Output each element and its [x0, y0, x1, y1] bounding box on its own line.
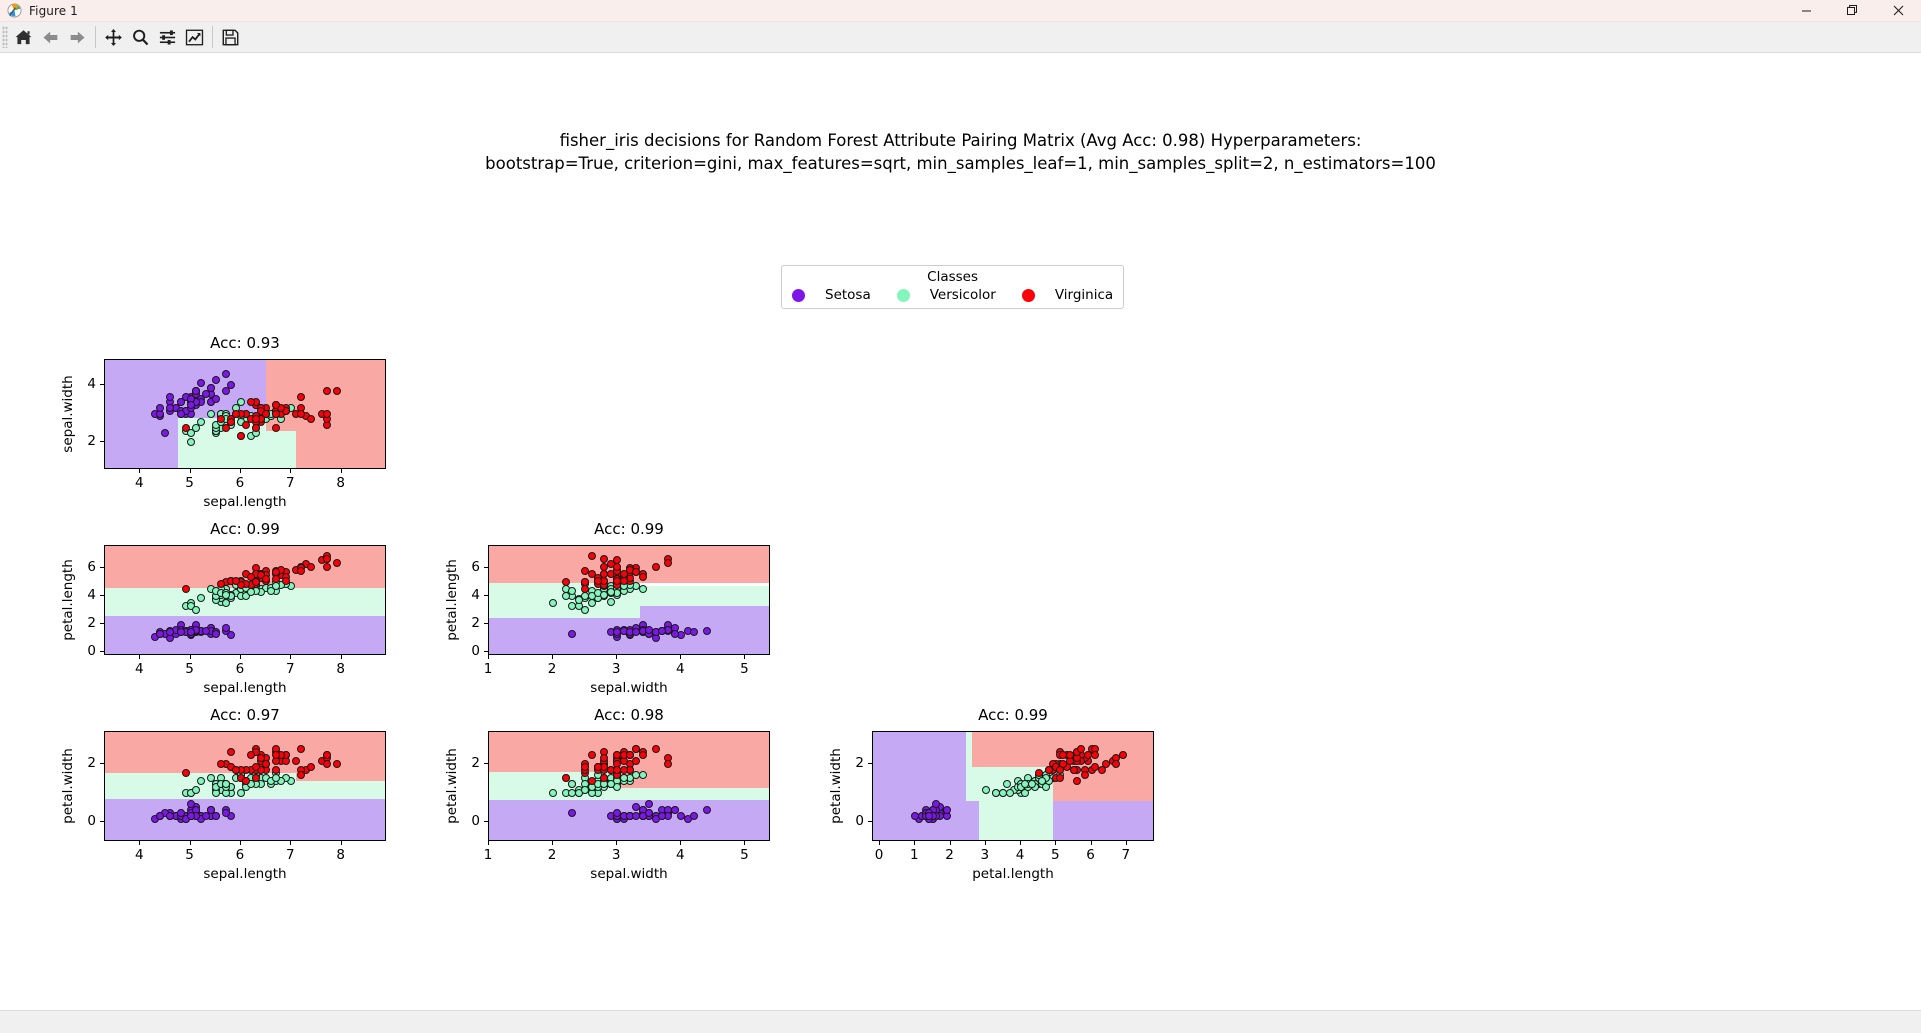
- home-icon: [14, 28, 33, 47]
- figure-title-line-2: bootstrap=True, criterion=gini, max_feat…: [0, 152, 1921, 175]
- data-point: [177, 628, 185, 636]
- data-point: [192, 606, 200, 614]
- x-tick: [744, 655, 745, 659]
- subplot-title: Acc: 0.98: [488, 706, 770, 724]
- data-point: [323, 410, 331, 418]
- x-tick: [950, 841, 951, 845]
- x-tick-label: 2: [548, 661, 557, 677]
- x-tick: [190, 655, 191, 659]
- data-point: [652, 745, 660, 753]
- data-point: [703, 627, 711, 635]
- forward-arrow-icon: [68, 28, 87, 47]
- data-point: [217, 580, 225, 588]
- y-axis-label: sepal.width: [60, 375, 76, 452]
- data-point: [652, 563, 660, 571]
- x-tick: [744, 841, 745, 845]
- forward-button[interactable]: [64, 24, 91, 50]
- y-axis-label: petal.width: [828, 748, 844, 824]
- subplot-title: Acc: 0.99: [872, 706, 1154, 724]
- legend-marker-virginica-icon: [1022, 289, 1035, 302]
- x-tick-label: 1: [484, 661, 493, 677]
- data-point: [323, 563, 331, 571]
- decision-region-virginica: [296, 431, 386, 470]
- legend-items: SetosaVersicolorVirginica: [792, 287, 1113, 303]
- subplot-sepal-length-vs-petal-width[interactable]: Acc: 0.974567802sepal.lengthpetal.width: [104, 731, 386, 841]
- subplot-sepal-width-vs-petal-width[interactable]: Acc: 0.981234502sepal.widthpetal.width: [488, 731, 770, 841]
- data-point: [272, 410, 280, 418]
- data-point: [581, 763, 589, 771]
- decision-region-setosa: [873, 732, 966, 841]
- data-point: [177, 809, 185, 817]
- data-point: [187, 438, 195, 446]
- x-tick: [1020, 841, 1021, 845]
- data-point: [197, 379, 205, 387]
- toolbar-separator-1: [95, 26, 96, 48]
- x-tick-label: 6: [236, 847, 245, 863]
- legend-item-virginica[interactable]: Virginica: [1022, 287, 1113, 303]
- matplotlib-navigation-toolbar: [0, 22, 1921, 53]
- x-tick: [240, 469, 241, 473]
- x-tick-label: 5: [185, 475, 194, 491]
- y-tick-label: 2: [76, 755, 96, 771]
- decision-region-setosa: [105, 799, 386, 841]
- data-point: [639, 585, 647, 593]
- data-point: [588, 570, 596, 578]
- decision-region-versicolor: [972, 767, 980, 802]
- figure-canvas[interactable]: fisher_iris decisions for Random Forest …: [0, 53, 1921, 1010]
- data-point: [182, 585, 190, 593]
- x-axis-label: sepal.length: [104, 494, 386, 510]
- y-tick-label: 2: [460, 755, 480, 771]
- legend-item-setosa[interactable]: Setosa: [792, 287, 871, 303]
- window-title: Figure 1: [29, 4, 78, 18]
- legend-marker-versicolor-icon: [897, 289, 910, 302]
- data-point: [639, 573, 647, 581]
- data-point: [1112, 760, 1120, 768]
- x-tick: [616, 841, 617, 845]
- data-point: [600, 555, 608, 563]
- legend-label: Virginica: [1055, 287, 1113, 303]
- legend-title: Classes: [792, 270, 1113, 285]
- subplot-title: Acc: 0.99: [488, 520, 770, 538]
- data-point: [607, 598, 615, 606]
- data-point: [182, 424, 190, 432]
- pan-button[interactable]: [100, 24, 127, 50]
- x-tick: [341, 655, 342, 659]
- y-tick-label: 2: [460, 615, 480, 631]
- data-point: [242, 421, 250, 429]
- y-axis-label: petal.width: [444, 748, 460, 824]
- data-point: [177, 410, 185, 418]
- data-point: [222, 370, 230, 378]
- x-tick-label: 5: [185, 661, 194, 677]
- x-tick-label: 4: [676, 847, 685, 863]
- data-point: [232, 577, 240, 585]
- subplot-sepal-length-vs-petal-length[interactable]: Acc: 0.99456780246sepal.lengthpetal.leng…: [104, 545, 386, 655]
- legend-item-versicolor[interactable]: Versicolor: [897, 287, 996, 303]
- pan-move-icon: [104, 28, 123, 47]
- close-icon: [1893, 5, 1904, 16]
- data-point: [588, 751, 596, 759]
- data-point: [192, 387, 200, 395]
- x-tick-label: 5: [1051, 847, 1060, 863]
- y-tick: [100, 441, 104, 442]
- data-point: [594, 577, 602, 585]
- x-tick-label: 6: [236, 661, 245, 677]
- data-point: [272, 766, 280, 774]
- data-point: [212, 812, 220, 820]
- subplot-title: Acc: 0.97: [104, 706, 386, 724]
- y-tick: [100, 763, 104, 764]
- x-tick-label: 5: [740, 847, 749, 863]
- y-tick: [100, 384, 104, 385]
- configure-subplots-button[interactable]: [154, 24, 181, 50]
- data-point: [227, 418, 235, 426]
- data-point: [232, 766, 240, 774]
- y-tick: [484, 567, 488, 568]
- decision-region-versicolor: [617, 788, 770, 800]
- subplot-title: Acc: 0.99: [104, 520, 386, 538]
- x-tick-label: 1: [910, 847, 919, 863]
- x-tick: [290, 841, 291, 845]
- x-tick: [1055, 841, 1056, 845]
- x-tick: [139, 469, 140, 473]
- x-tick: [341, 469, 342, 473]
- data-point: [202, 627, 210, 635]
- figure-title-line-1: fisher_iris decisions for Random Forest …: [0, 129, 1921, 152]
- x-tick: [341, 841, 342, 845]
- y-tick: [484, 763, 488, 764]
- y-tick-label: 2: [844, 755, 864, 771]
- y-tick: [484, 651, 488, 652]
- x-tick-label: 2: [945, 847, 954, 863]
- x-axis-label: sepal.length: [104, 680, 386, 696]
- decision-region-virginica: [296, 732, 386, 781]
- data-point: [323, 760, 331, 768]
- data-point: [252, 424, 260, 432]
- x-tick-label: 2: [548, 847, 557, 863]
- x-axis-label: petal.length: [872, 866, 1154, 882]
- matplotlib-figure-icon: [7, 3, 22, 18]
- zoom-button[interactable]: [127, 24, 154, 50]
- x-tick-label: 7: [286, 847, 295, 863]
- y-tick-label: 2: [76, 433, 96, 449]
- data-point: [690, 812, 698, 820]
- data-point: [247, 573, 255, 581]
- zoom-magnifier-icon: [131, 28, 150, 47]
- subplot-sepal-length-vs-sepal-width[interactable]: Acc: 0.934567824sepal.lengthsepal.width: [104, 359, 386, 469]
- data-point: [658, 627, 666, 635]
- data-point: [323, 387, 331, 395]
- x-tick-label: 8: [336, 661, 345, 677]
- data-point: [333, 760, 341, 768]
- axes-area[interactable]: [104, 545, 386, 655]
- subplot-petal-length-vs-petal-width[interactable]: Acc: 0.990123456702petal.lengthpetal.wid…: [872, 731, 1154, 841]
- data-point: [247, 588, 255, 596]
- data-point: [323, 555, 331, 563]
- data-point: [1028, 780, 1036, 788]
- y-tick-label: 2: [76, 615, 96, 631]
- data-point: [323, 751, 331, 759]
- data-point: [568, 630, 576, 638]
- data-point: [222, 809, 230, 817]
- axes-area[interactable]: [104, 731, 386, 841]
- x-tick: [290, 469, 291, 473]
- decision-region-versicolor: [640, 586, 770, 605]
- data-point: [222, 780, 230, 788]
- x-tick: [190, 841, 191, 845]
- x-tick: [139, 841, 140, 845]
- data-point: [192, 786, 200, 794]
- x-axis-label: sepal.width: [488, 680, 770, 696]
- x-tick-label: 7: [286, 475, 295, 491]
- x-tick: [1091, 841, 1092, 845]
- y-tick-label: 0: [76, 813, 96, 829]
- back-arrow-icon: [41, 28, 60, 47]
- y-tick: [868, 821, 872, 822]
- y-axis-label: petal.width: [60, 748, 76, 824]
- edit-parameters-button[interactable]: [181, 24, 208, 50]
- y-tick: [100, 595, 104, 596]
- x-tick-label: 8: [336, 475, 345, 491]
- x-tick: [139, 655, 140, 659]
- y-tick-label: 6: [76, 559, 96, 575]
- x-tick: [190, 469, 191, 473]
- data-point: [645, 626, 653, 634]
- data-point: [658, 812, 666, 820]
- data-point: [613, 577, 621, 585]
- data-point: [1091, 763, 1099, 771]
- data-point: [639, 751, 647, 759]
- minimize-button[interactable]: [1783, 0, 1829, 21]
- data-point: [202, 812, 210, 820]
- data-point: [1035, 769, 1043, 777]
- data-point: [333, 387, 341, 395]
- x-tick: [240, 655, 241, 659]
- decision-region-versicolor: [296, 781, 386, 799]
- y-tick: [484, 821, 488, 822]
- data-point: [217, 415, 225, 423]
- data-point: [568, 587, 576, 595]
- x-tick-label: 4: [1016, 847, 1025, 863]
- window-titlebar: Figure 1: [0, 0, 1921, 22]
- data-point: [581, 786, 589, 794]
- axes-area[interactable]: [488, 545, 770, 655]
- minimize-icon: [1801, 5, 1812, 16]
- maximize-restore-icon: [1847, 5, 1858, 16]
- data-point: [613, 563, 621, 571]
- maximize-button[interactable]: [1829, 0, 1875, 21]
- data-point: [192, 424, 200, 432]
- decision-region-setosa: [1053, 801, 1154, 841]
- window-controls: [1783, 0, 1921, 21]
- axes-area[interactable]: [104, 359, 386, 469]
- y-tick: [100, 651, 104, 652]
- y-tick-label: 4: [76, 376, 96, 392]
- data-point: [671, 806, 679, 814]
- toolbar-separator-2: [212, 26, 213, 48]
- data-point: [187, 812, 195, 820]
- x-tick: [1126, 841, 1127, 845]
- data-point: [1070, 766, 1078, 774]
- y-tick-label: 0: [460, 813, 480, 829]
- data-point: [333, 559, 341, 567]
- data-point: [594, 763, 602, 771]
- figure-window: Figure 1: [0, 0, 1921, 1033]
- x-tick: [680, 655, 681, 659]
- x-axis-label: sepal.length: [104, 866, 386, 882]
- x-tick-label: 4: [135, 475, 144, 491]
- x-tick-label: 8: [336, 847, 345, 863]
- x-tick: [552, 841, 553, 845]
- status-bar: [0, 1010, 1921, 1033]
- x-tick-label: 3: [981, 847, 990, 863]
- y-tick: [484, 595, 488, 596]
- x-tick-label: 1: [484, 847, 493, 863]
- y-tick-label: 6: [460, 559, 480, 575]
- y-tick: [100, 821, 104, 822]
- save-button[interactable]: [217, 24, 244, 50]
- y-tick: [100, 623, 104, 624]
- data-point: [207, 410, 215, 418]
- decision-region-setosa: [105, 616, 386, 655]
- x-tick-label: 7: [1122, 847, 1131, 863]
- y-tick-label: 0: [844, 813, 864, 829]
- x-tick-label: 6: [236, 475, 245, 491]
- x-tick: [552, 655, 553, 659]
- data-point: [187, 401, 195, 409]
- data-point: [549, 789, 557, 797]
- subplot-title: Acc: 0.93: [104, 334, 386, 352]
- x-tick-label: 0: [875, 847, 884, 863]
- data-point: [182, 769, 190, 777]
- x-tick-label: 5: [185, 847, 194, 863]
- decision-region-virginica: [617, 732, 770, 788]
- data-point: [212, 630, 220, 638]
- x-tick-label: 3: [612, 661, 621, 677]
- y-tick: [484, 623, 488, 624]
- x-tick: [488, 841, 489, 845]
- legend-label: Setosa: [825, 287, 871, 303]
- legend: Classes SetosaVersicolorVirginica: [781, 265, 1124, 309]
- subplot-sepal-width-vs-petal-length[interactable]: Acc: 0.99123450246sepal.widthpetal.lengt…: [488, 545, 770, 655]
- data-point: [262, 410, 270, 418]
- y-axis-label: petal.length: [60, 559, 76, 641]
- x-tick: [879, 841, 880, 845]
- x-tick-label: 7: [286, 661, 295, 677]
- decision-region-setosa: [489, 800, 770, 841]
- data-point: [1021, 780, 1029, 788]
- data-point: [202, 390, 210, 398]
- edit-curve-axis-icon: [185, 28, 204, 47]
- data-point: [588, 552, 596, 560]
- y-tick-label: 0: [76, 643, 96, 659]
- x-tick-label: 5: [740, 661, 749, 677]
- data-point: [272, 424, 280, 432]
- legend-label: Versicolor: [930, 287, 996, 303]
- data-point: [1102, 760, 1110, 768]
- y-tick-label: 0: [460, 643, 480, 659]
- data-point: [232, 410, 240, 418]
- axes-area[interactable]: [872, 731, 1154, 841]
- data-point: [588, 777, 596, 785]
- subplot-configure-sliders-icon: [158, 28, 177, 47]
- y-tick: [100, 567, 104, 568]
- data-point: [671, 630, 679, 638]
- data-point: [212, 376, 220, 384]
- data-point: [197, 777, 205, 785]
- x-tick: [680, 841, 681, 845]
- x-tick-label: 4: [676, 661, 685, 677]
- legend-marker-setosa-icon: [792, 289, 805, 302]
- y-tick-label: 4: [460, 587, 480, 603]
- data-point: [1056, 766, 1064, 774]
- data-point: [262, 760, 270, 768]
- data-point: [222, 624, 230, 632]
- data-point: [982, 786, 990, 794]
- data-point: [222, 591, 230, 599]
- x-tick: [914, 841, 915, 845]
- close-button[interactable]: [1875, 0, 1921, 21]
- x-tick-label: 4: [135, 847, 144, 863]
- save-floppy-icon: [221, 28, 240, 47]
- decision-region-setosa: [966, 801, 979, 841]
- x-tick-label: 6: [1086, 847, 1095, 863]
- x-tick: [290, 655, 291, 659]
- decision-region-setosa: [105, 360, 178, 469]
- x-tick: [488, 655, 489, 659]
- data-point: [222, 387, 230, 395]
- x-tick: [616, 655, 617, 659]
- y-axis-label: petal.length: [444, 559, 460, 641]
- x-tick: [985, 841, 986, 845]
- data-point: [217, 760, 225, 768]
- back-button[interactable]: [37, 24, 64, 50]
- y-tick-label: 4: [76, 587, 96, 603]
- data-point: [197, 594, 205, 602]
- x-tick-label: 4: [135, 661, 144, 677]
- data-point: [252, 763, 260, 771]
- x-axis-label: sepal.width: [488, 866, 770, 882]
- data-point: [1081, 771, 1089, 779]
- data-point: [613, 766, 621, 774]
- toolbar-drag-handle[interactable]: [2, 26, 8, 48]
- axes-area[interactable]: [488, 731, 770, 841]
- x-tick-label: 3: [612, 847, 621, 863]
- y-tick: [868, 763, 872, 764]
- data-point: [187, 628, 195, 636]
- data-point: [297, 410, 305, 418]
- x-tick: [240, 841, 241, 845]
- home-button[interactable]: [10, 24, 37, 50]
